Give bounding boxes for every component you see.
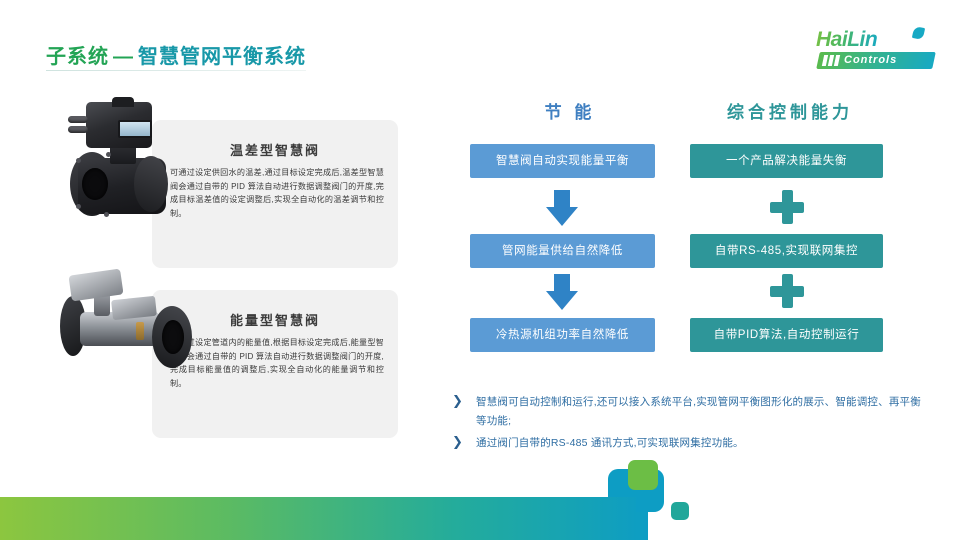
down-arrow-icon <box>546 190 578 226</box>
valve-bore <box>82 168 108 200</box>
valve-flange <box>134 156 168 212</box>
flow-step-box: 自带RS-485,实现联网集控 <box>690 234 883 268</box>
bullet-list: ❯ 智慧阀可自动控制和运行,还可以接入系统平台,实现管网平衡图形化的展示、智能调… <box>452 392 922 455</box>
page-title-dash: — <box>109 46 138 68</box>
logo-wordmark: HaiLin <box>816 28 877 52</box>
flow-step-box: 冷热源机组功率自然降低 <box>470 318 655 352</box>
page-title-prefix: 子系统 <box>46 46 109 68</box>
plus-icon <box>770 274 804 308</box>
bullet-text: 智慧阀可自动控制和运行,还可以接入系统平台,实现管网平衡图形化的展示、智能调控、… <box>476 396 921 427</box>
valve-bore <box>162 320 184 354</box>
hailin-logo: HaiLin Controls <box>810 28 938 74</box>
bullet-text: 通过阀门自带的RS-485 通讯方式,可实现联网集控功能。 <box>476 437 744 449</box>
page-title-main: 智慧管网平衡系统 <box>138 46 306 68</box>
valve-connectors <box>68 116 88 140</box>
flow-step-box: 智慧阀自动实现能量平衡 <box>470 144 655 178</box>
column-heading-control-capability: 综合控制能力 <box>690 98 890 123</box>
chevron-right-icon: ❯ <box>452 436 466 448</box>
flow-step-box: 管网能量供给自然降低 <box>470 234 655 268</box>
valve-fitting <box>136 322 144 340</box>
plus-icon <box>770 190 804 224</box>
chevron-right-icon: ❯ <box>452 395 466 407</box>
down-arrow-icon <box>546 274 578 310</box>
flow-step-box: 一个产品解决能量失衡 <box>690 144 883 178</box>
differential-temperature-valve-photo <box>62 100 184 218</box>
flow-step-box: 自带PID算法,自动控制运行 <box>690 318 883 352</box>
logo-ticks-icon <box>823 55 841 66</box>
logo-subtitle: Controls <box>844 53 936 68</box>
list-item: ❯ 通过阀门自带的RS-485 通讯方式,可实现联网集控功能。 <box>452 433 922 452</box>
decoration-square-teal <box>671 502 689 520</box>
card-body: 可通过设定管道内的能量值,根据目标设定完成后,能量型智慧阀会通过自带的 PID … <box>170 336 384 390</box>
title-divider <box>46 70 306 71</box>
product-card: 温差型智慧阀 可通过设定供回水的温差,通过目标设定完成后,温差型智慧阀会通过自带… <box>152 120 398 268</box>
page-title: 子系统—智慧管网平衡系统 <box>46 40 306 69</box>
valve-lcd-display <box>118 120 152 138</box>
column-heading-energy-saving: 节 能 <box>470 98 670 123</box>
card-body: 可通过设定供回水的温差,通过目标设定完成后,温差型智慧阀会通过自带的 PID 算… <box>170 166 384 220</box>
valve-actuator <box>68 269 123 302</box>
energy-type-valve-photo <box>54 268 194 384</box>
list-item: ❯ 智慧阀可自动控制和运行,还可以接入系统平台,实现管网平衡图形化的展示、智能调… <box>452 392 922 430</box>
footer-gradient-bar <box>0 497 648 540</box>
slide-canvas: 子系统—智慧管网平衡系统 HaiLin Controls 温差型智慧阀 可通过设… <box>0 0 960 540</box>
card-title: 温差型智慧阀 <box>152 140 398 159</box>
leaf-icon <box>912 26 925 40</box>
decoration-square-green <box>628 460 658 490</box>
